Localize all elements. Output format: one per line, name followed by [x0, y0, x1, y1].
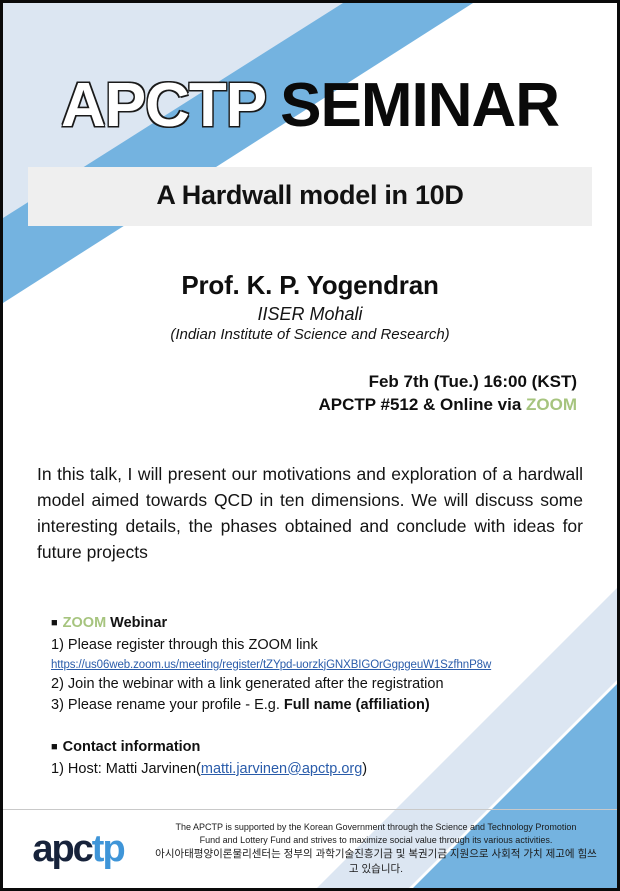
square-bullet-icon: ■	[51, 617, 58, 629]
contact-heading: ■Contact information	[51, 737, 617, 758]
seminar-date-time: Feb 7th (Tue.) 16:00 (KST)	[3, 371, 577, 394]
talk-title: A Hardwall model in 10D	[38, 180, 582, 211]
square-bullet-icon: ■	[51, 741, 58, 753]
zoom-webinar-heading: ■ZOOM Webinar	[51, 613, 617, 634]
apctp-logo: apctp	[3, 830, 153, 868]
zoom-heading-label: ZOOM	[63, 615, 107, 631]
talk-title-band: A Hardwall model in 10D	[28, 167, 592, 226]
speaker-affiliation-full: (Indian Institute of Science and Researc…	[3, 326, 617, 343]
webinar-step-3-prefix: 3) Please rename your profile - E.g.	[51, 697, 284, 713]
contact-host-line: 1) Host: Matti Jarvinen(matti.jarvinen@a…	[51, 759, 617, 780]
support-text-en-line-2: Fund and Lottery Fund and strives to max…	[153, 834, 599, 847]
speaker-name: Prof. K. P. Yogendran	[3, 270, 617, 301]
poster-header: APCTPSEMINAR	[3, 3, 617, 137]
venue-prefix-text: APCTP #512 & Online via	[318, 395, 526, 414]
brand-apctp-text: APCTP	[61, 75, 266, 137]
venue-zoom-label: ZOOM	[526, 395, 577, 414]
seminar-poster: APCTPSEMINAR A Hardwall model in 10D Pro…	[0, 0, 620, 891]
abstract-text: In this talk, I will present our motivat…	[37, 462, 583, 566]
contact-heading-label: Contact information	[63, 739, 201, 755]
seminar-venue: APCTP #512 & Online via ZOOM	[3, 394, 577, 417]
schedule-block: Feb 7th (Tue.) 16:00 (KST) APCTP #512 & …	[3, 371, 617, 417]
contact-host-suffix: )	[362, 761, 367, 777]
webinar-step-3: 3) Please rename your profile - E.g. Ful…	[51, 695, 617, 716]
contact-host-prefix: 1) Host: Matti Jarvinen(	[51, 761, 201, 777]
speaker-block: Prof. K. P. Yogendran IISER Mohali (Indi…	[3, 270, 617, 343]
zoom-webinar-section: ■ZOOM Webinar 1) Please register through…	[51, 613, 617, 715]
webinar-step-3-emphasis: Full name (affiliation)	[284, 697, 430, 713]
webinar-step-2: 2) Join the webinar with a link generate…	[51, 674, 617, 695]
webinar-step-1: 1) Please register through this ZOOM lin…	[51, 635, 617, 656]
info-block: ■ZOOM Webinar 1) Please register through…	[51, 613, 617, 779]
contact-section: ■Contact information 1) Host: Matti Jarv…	[51, 737, 617, 779]
support-text-kr: 아시아태평양이론물리센터는 정부의 과학기술진흥기금 및 복권기금 지원으로 사…	[153, 847, 599, 877]
logo-tp-text: tp	[92, 828, 124, 870]
poster-footer: apctp The APCTP is supported by the Kore…	[3, 809, 617, 888]
footer-support-text: The APCTP is supported by the Korean Gov…	[153, 821, 617, 878]
webinar-heading-rest: Webinar	[106, 615, 167, 631]
host-email-link[interactable]: matti.jarvinen@apctp.org	[201, 761, 362, 777]
support-text-en-line-1: The APCTP is supported by the Korean Gov…	[153, 821, 599, 834]
speaker-affiliation: IISER Mohali	[3, 304, 617, 325]
logo-apc-text: apc	[32, 828, 91, 870]
brand-seminar-text: SEMINAR	[280, 75, 559, 137]
zoom-registration-link[interactable]: https://us06web.zoom.us/meeting/register…	[51, 657, 617, 673]
